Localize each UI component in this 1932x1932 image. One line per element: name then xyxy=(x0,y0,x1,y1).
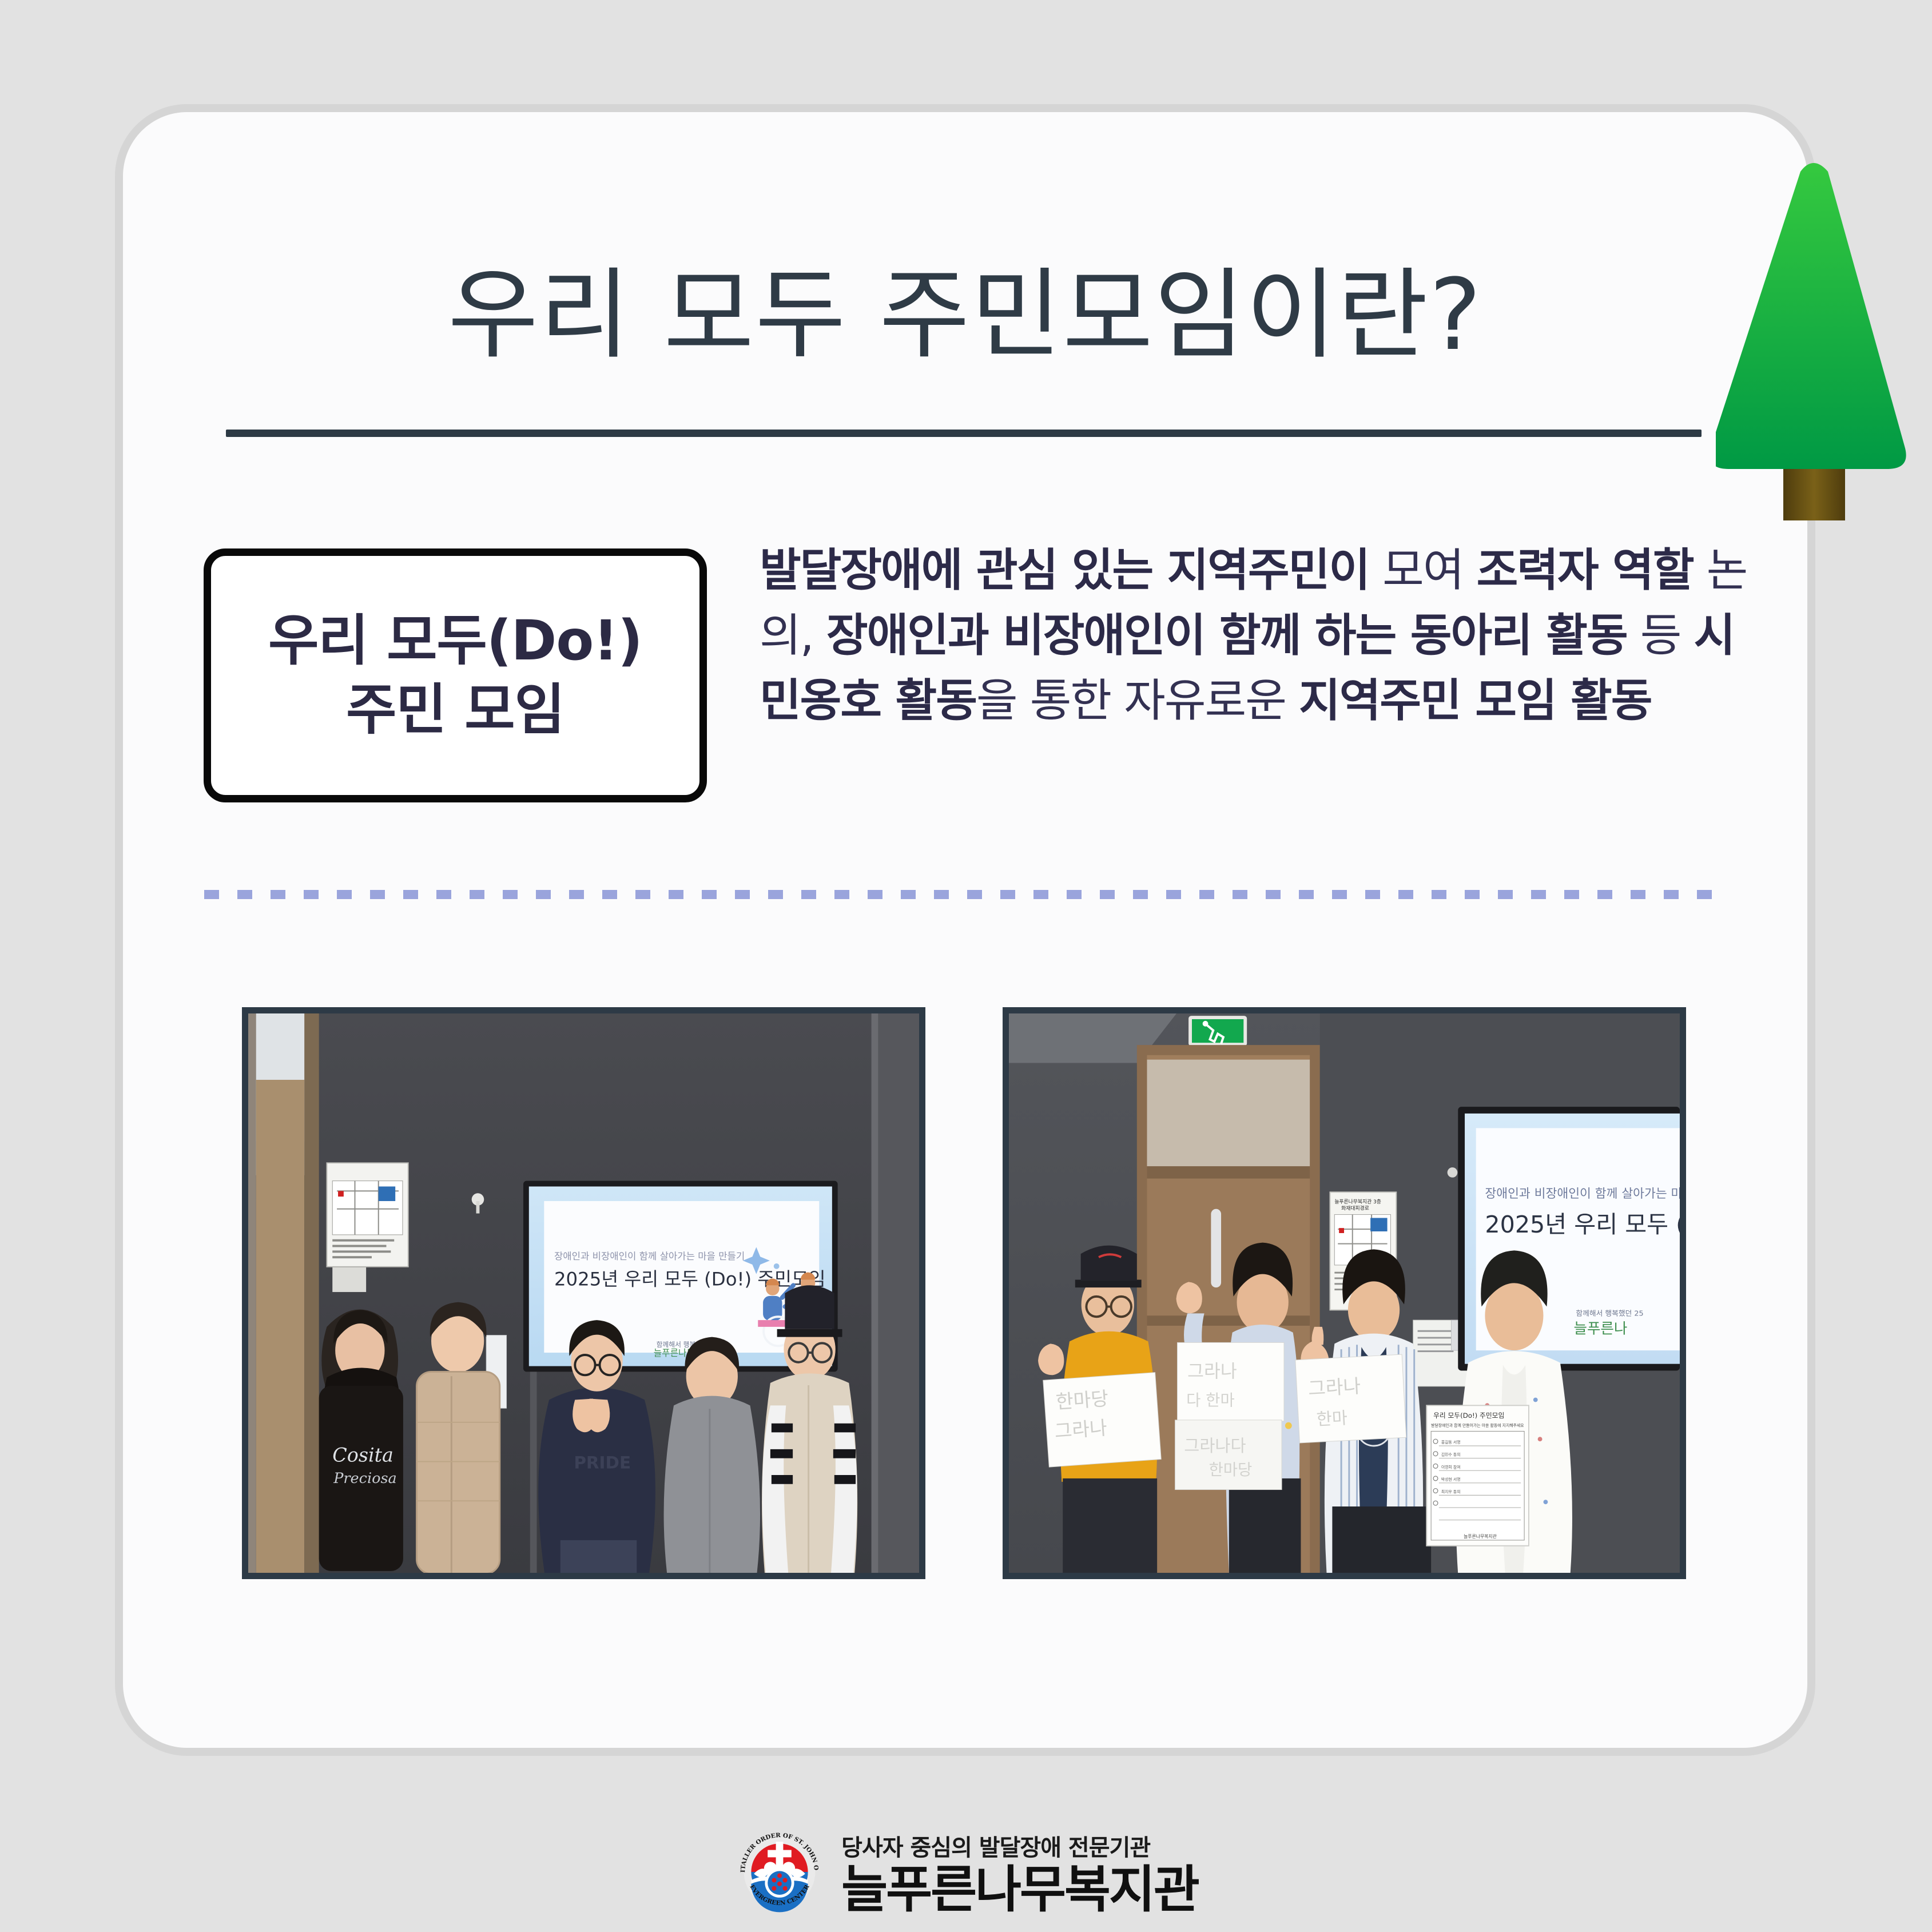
photo-left-illustration: 장애인과 비장애인이 함께 살아가는 마을 만들기 2025년 우리 모두 (D… xyxy=(248,1013,919,1573)
badge-line-1: 우리 모두(Do!) xyxy=(268,606,642,675)
badge-line-2: 주민 모임 xyxy=(346,675,565,745)
footer-organization-name: 늘푸른나무복지관 xyxy=(841,1865,1198,1915)
photo-left: 장애인과 비장애인이 함께 살아가는 마을 만들기 2025년 우리 모두 (D… xyxy=(242,1007,925,1579)
svg-text:그라나: 그라나 xyxy=(1187,1361,1237,1382)
svg-text:한마: 한마 xyxy=(1316,1408,1348,1429)
description-segment-6: 등 xyxy=(1627,609,1694,662)
footer-logo: HOSPITALLER ORDER OF ST. JOHN OF GOD EVE… xyxy=(0,1812,1932,1932)
description-segment-8: 을 통한 자유로운 xyxy=(976,674,1299,727)
description-segment-9: 지역주민 모임 활동 xyxy=(1299,674,1651,727)
svg-text:발달장애인과 함께 만들어가는 마을 활동에 지지해주세요: 발달장애인과 함께 만들어가는 마을 활동에 지지해주세요 xyxy=(1431,1423,1524,1428)
svg-text:그라나다: 그라나다 xyxy=(1184,1436,1246,1456)
svg-text:홍길동 서명: 홍길동 서명 xyxy=(1441,1440,1461,1445)
svg-text:PRIDE: PRIDE xyxy=(574,1453,631,1472)
svg-text:늘푸른나무복지관 3층: 늘푸른나무복지관 3층 xyxy=(1334,1199,1381,1205)
page-title-container: 우리 모두 주민모임이란? xyxy=(123,261,1807,369)
svg-text:그라나: 그라나 xyxy=(1054,1417,1108,1442)
footer-tagline: 당사자 중심의 발달장애 전문기관 xyxy=(841,1829,1198,1862)
program-description: 발달장애에 관심 있는 지역주민이 모여 조력자 역할 논의, 장애인과 비장애… xyxy=(760,538,1755,733)
svg-text:한마당: 한마당 xyxy=(1209,1461,1252,1479)
svg-text:김민수 동의: 김민수 동의 xyxy=(1441,1452,1461,1457)
svg-text:한마당: 한마당 xyxy=(1055,1388,1110,1413)
info-row: 우리 모두(Do!) 주민 모임 발달장애에 관심 있는 지역주민이 모여 조력… xyxy=(123,538,1807,836)
description-segment-2: 모여 xyxy=(1369,544,1477,597)
svg-text:박성현 서명: 박성현 서명 xyxy=(1441,1477,1461,1482)
svg-text:그라나: 그라나 xyxy=(1307,1375,1361,1400)
photo-right-illustration: 늘푸른나무복지관 3층 화재대피경로 xyxy=(1009,1013,1680,1573)
svg-text:Cosita: Cosita xyxy=(332,1444,393,1466)
description-segment-1: 발달장애에 관심 있는 지역주민이 xyxy=(760,544,1369,597)
svg-text:2025년 우리 모두 (Do!) 주민모임: 2025년 우리 모두 (Do!) 주민모임 xyxy=(554,1268,826,1290)
content-card: 우리 모두 주민모임이란? 우리 모두(Do!) 주민 모임 발달장애에 관심 … xyxy=(123,112,1807,1748)
photo-gallery: 장애인과 비장애인이 함께 살아가는 마을 만들기 2025년 우리 모두 (D… xyxy=(123,1007,1807,1585)
title-underline-rule xyxy=(226,430,1702,437)
svg-text:늘푸른나: 늘푸른나 xyxy=(1573,1321,1627,1338)
svg-text:다 한마: 다 한마 xyxy=(1186,1391,1235,1409)
svg-text:화재대피경로: 화재대피경로 xyxy=(1341,1205,1369,1212)
svg-text:장애인과 비장애인이 함께 살아가는 마을 만들기: 장애인과 비장애인이 함께 살아가는 마을 만들기 xyxy=(554,1251,745,1262)
svg-text:장애인과 비장애인이 함께 살아가는 마을 만: 장애인과 비장애인이 함께 살아가는 마을 만 xyxy=(1485,1187,1680,1201)
svg-text:최지우 동의: 최지우 동의 xyxy=(1441,1489,1461,1494)
photo-right: 늘푸른나무복지관 3층 화재대피경로 xyxy=(1003,1007,1686,1579)
svg-text:Preciosa: Preciosa xyxy=(333,1470,397,1487)
svg-text:함께해서 행복했던 25: 함께해서 행복했던 25 xyxy=(1576,1309,1643,1318)
description-segment-5: 장애인과 비장애인이 함께 하는 동아리 활동 xyxy=(826,609,1627,662)
svg-text:이영희 참여: 이영희 참여 xyxy=(1441,1464,1461,1469)
page-title: 우리 모두 주민모임이란? xyxy=(123,261,1807,369)
section-divider xyxy=(204,890,1726,899)
description-segment-3: 조력자 역할 xyxy=(1477,544,1694,597)
footer-text-block: 당사자 중심의 발달장애 전문기관 늘푸른나무복지관 xyxy=(841,1829,1198,1915)
hospitaller-order-emblem-icon: HOSPITALLER ORDER OF ST. JOHN OF GOD EVE… xyxy=(734,1826,825,1918)
svg-text:늘푸른나무복지관: 늘푸른나무복지관 xyxy=(1464,1533,1497,1539)
svg-text:2025년 우리 모두 (Do: 2025년 우리 모두 (Do xyxy=(1485,1211,1680,1238)
program-name-badge: 우리 모두(Do!) 주민 모임 xyxy=(204,548,707,802)
svg-text:우리 모두(Do!) 주민모임: 우리 모두(Do!) 주민모임 xyxy=(1433,1412,1504,1420)
